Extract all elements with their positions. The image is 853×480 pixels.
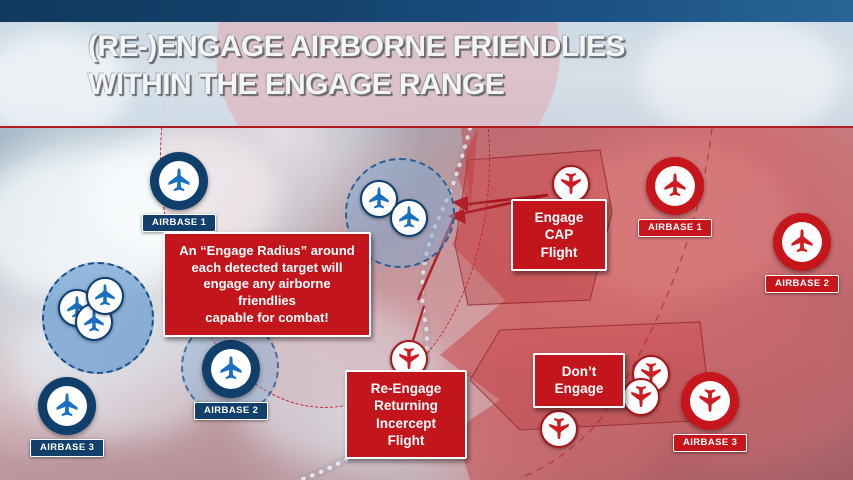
airbase-disc xyxy=(681,372,739,430)
blue-fighter-unit[interactable] xyxy=(390,199,428,237)
fighter-jet-icon xyxy=(211,349,251,389)
airbase-marker[interactable]: AIRBASE 2 xyxy=(765,213,839,293)
fighter-jet-icon xyxy=(690,381,730,421)
fighter-jet-icon xyxy=(366,186,392,212)
airbase-marker[interactable]: AIRBASE 3 xyxy=(673,372,747,452)
airbase-disc xyxy=(150,152,208,210)
callout-engage-radius[interactable]: An “Engage Radius” around each detected … xyxy=(163,232,371,337)
airbase-marker[interactable]: AIRBASE 1 xyxy=(142,152,216,232)
fighter-jet-icon xyxy=(546,416,572,442)
page-title: (RE-)ENGAGE AIRBORNE FRIENDLIES WITHIN T… xyxy=(88,28,728,105)
fighter-jet-icon xyxy=(396,205,422,231)
fighter-jet-icon xyxy=(396,346,422,372)
airbase-disc xyxy=(38,377,96,435)
blue-fighter-unit[interactable] xyxy=(86,277,124,315)
header-divider xyxy=(0,126,853,128)
fighter-jet-icon xyxy=(47,386,87,426)
airbase-marker[interactable]: AIRBASE 2 xyxy=(194,340,268,420)
top-band xyxy=(0,0,853,22)
airbase-marker[interactable]: AIRBASE 1 xyxy=(638,157,712,237)
airbase-disc xyxy=(773,213,831,271)
callout-engage-cap-flight[interactable]: Engage CAP Flight xyxy=(511,199,607,271)
airbase-label: AIRBASE 2 xyxy=(194,402,268,420)
airbase-disc xyxy=(646,157,704,215)
airbase-disc xyxy=(202,340,260,398)
red-fighter-unit[interactable] xyxy=(540,410,578,448)
fighter-jet-icon xyxy=(628,384,654,410)
airbase-label: AIRBASE 1 xyxy=(142,214,216,232)
red-fighter-unit[interactable] xyxy=(622,378,660,416)
fighter-jet-icon xyxy=(558,171,584,197)
slide-canvas: (RE-)ENGAGE AIRBORNE FRIENDLIES WITHIN T… xyxy=(0,0,853,480)
airbase-label: AIRBASE 3 xyxy=(30,439,104,457)
airbase-label: AIRBASE 2 xyxy=(765,275,839,293)
fighter-jet-icon xyxy=(92,283,118,309)
red-cap-flight-unit[interactable] xyxy=(552,165,590,203)
fighter-jet-icon xyxy=(655,166,695,206)
callout-dont-engage[interactable]: Don’t Engage xyxy=(533,353,625,408)
fighter-jet-icon xyxy=(782,222,822,262)
airbase-marker[interactable]: AIRBASE 3 xyxy=(30,377,104,457)
fighter-jet-icon xyxy=(159,161,199,201)
airbase-label: AIRBASE 1 xyxy=(638,219,712,237)
airbase-label: AIRBASE 3 xyxy=(673,434,747,452)
callout-re-engage-returning[interactable]: Re-Engage Returning Incercept Flight xyxy=(345,370,467,459)
